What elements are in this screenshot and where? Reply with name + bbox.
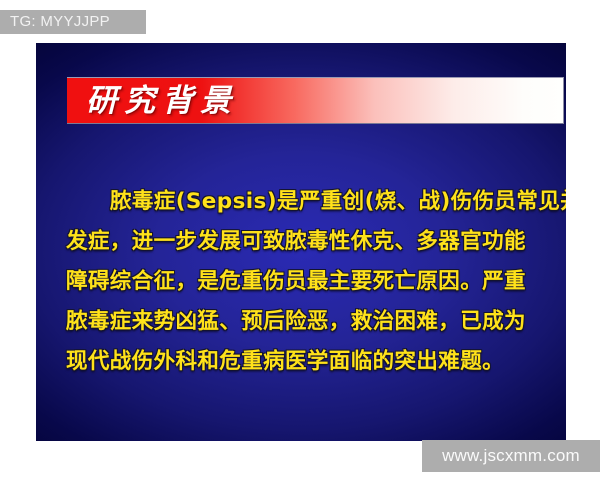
slide-body-text: 脓毒症(Sepsis)是严重创(烧、战)伤伤员常见并 发症，进一步发展可致脓毒性… [66,182,536,382]
body-line: 脓毒症来势凶猛、预后险恶，救治困难，已成为 [66,302,536,342]
body-line: 发症，进一步发展可致脓毒性休克、多器官功能 [66,222,536,262]
telegram-channel-tag: TG: MYYJJPP [0,10,146,34]
body-line: 障碍综合征，是危重伤员最主要死亡原因。严重 [66,262,536,302]
body-line: 脓毒症(Sepsis)是严重创(烧、战)伤伤员常见并 [66,182,536,222]
presentation-slide: 研究背景 脓毒症(Sepsis)是严重创(烧、战)伤伤员常见并 发症，进一步发展… [36,43,566,441]
slide-title-banner: 研究背景 [67,77,564,124]
slide-title: 研究背景 [86,79,238,124]
body-line: 现代战伤外科和危重病医学面临的突出难题。 [66,342,536,382]
site-watermark: www.jscxmm.com [422,440,600,472]
